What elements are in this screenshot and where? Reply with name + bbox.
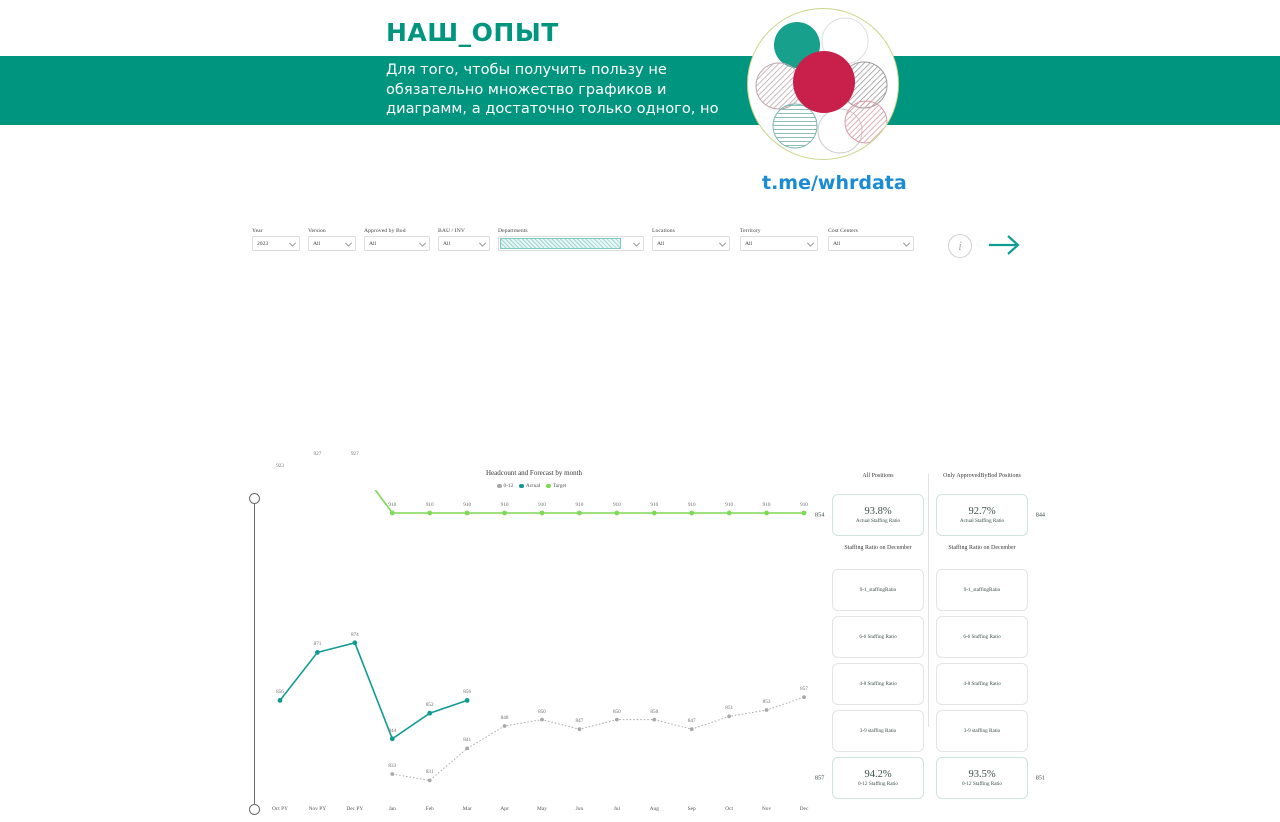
filter-bau-inv[interactable]: BAU / INV All — [438, 228, 490, 251]
chevron-down-icon — [345, 239, 352, 246]
kpi-main-caption: Actual Staffing Ratio — [856, 518, 900, 524]
data-point-label: 910 — [426, 502, 434, 508]
data-point-label: 857 — [800, 686, 808, 692]
kpi-column-divider — [928, 474, 929, 727]
legend-swatch-icon — [546, 484, 551, 489]
kpi-main-caption: Actual Staffing Ratio — [960, 518, 1004, 524]
data-point-label: 910 — [538, 502, 546, 508]
data-point-label: 856 — [276, 689, 284, 695]
legend-swatch-icon — [497, 484, 502, 489]
data-point-label: 910 — [388, 502, 396, 508]
kpi-total-side-left: 857 — [815, 775, 824, 782]
filter-year-value: 2023 — [257, 241, 268, 247]
data-point-label: 853 — [763, 699, 771, 705]
x-axis-tick-label: Oct — [725, 806, 733, 812]
telegram-channel-link[interactable]: t.me/whrdata — [762, 172, 907, 194]
filter-territory-value: All — [745, 241, 752, 247]
chart-plot-area — [262, 490, 822, 820]
data-point-label: 910 — [800, 502, 808, 508]
filter-departments-label: Departments — [498, 228, 644, 234]
ratio-card-4-8[interactable]: 4-8 Staffing Ratio — [936, 663, 1028, 705]
filter-approved-by-bod[interactable]: Approved by Bod All — [364, 228, 430, 251]
kpi-column-all-positions: All Positions 854 93.8% Actual Staffing … — [832, 472, 924, 799]
kpi-main-value: 93.8% — [864, 506, 891, 517]
filter-cost-centers-label: Cost Centers — [828, 228, 914, 234]
kpi-total-caption: 0-12 Staffing Ratio — [962, 781, 1002, 787]
filter-version-value: All — [313, 241, 320, 247]
filter-cost-centers-select[interactable]: All — [828, 236, 914, 251]
info-icon[interactable]: i — [948, 234, 972, 258]
kpi-side-value-left: 854 — [815, 512, 824, 519]
data-point-label: 850 — [538, 709, 546, 715]
filter-locations-label: Locations — [652, 228, 730, 234]
ratio-card-6-6[interactable]: 6-6 Staffing Ratio — [936, 616, 1028, 658]
kpi-card-actual-staffing-ratio[interactable]: 92.7% Actual Staffing Ratio 844 — [936, 494, 1028, 536]
data-point-label: 927 — [351, 451, 359, 457]
kpi-card-0-12-staffing-ratio[interactable]: 93.5% 0-12 Staffing Ratio 851 — [936, 757, 1028, 799]
legend-swatch-icon — [519, 484, 524, 489]
data-point-label: 910 — [725, 502, 733, 508]
x-axis-tick-label: Nov — [762, 806, 771, 812]
filter-territory-label: Territory — [740, 228, 818, 234]
filter-cost-centers-value: All — [833, 241, 840, 247]
x-axis-tick-label: Mar — [463, 806, 472, 812]
data-point-label: 841 — [463, 737, 471, 743]
legend-item-target[interactable]: Target — [546, 483, 566, 489]
x-axis-tick-label: May — [537, 806, 547, 812]
promo-banner: НАШ_ОПЫТ Для того, чтобы получить пользу… — [0, 0, 1280, 210]
x-axis-tick-label: Jul — [614, 806, 620, 812]
ratio-card-9-1[interactable]: 9-1_staffingRatio — [832, 569, 924, 611]
filter-version-select[interactable]: All — [308, 236, 356, 251]
filter-locations-select[interactable]: All — [652, 236, 730, 251]
data-point-label: 910 — [763, 502, 771, 508]
flower-logo-graphic — [748, 9, 899, 160]
kpi-card-actual-staffing-ratio[interactable]: 854 93.8% Actual Staffing Ratio — [832, 494, 924, 536]
x-axis-tick-label: Jan — [389, 806, 396, 812]
data-point-label: 910 — [501, 502, 509, 508]
data-point-label: 848 — [501, 715, 509, 721]
banner-subtitle: Для того, чтобы получить пользу не обяза… — [386, 60, 748, 138]
x-axis-tick-label: Sep — [688, 806, 696, 812]
data-point-label: 927 — [314, 451, 322, 457]
filter-locations[interactable]: Locations All — [652, 228, 730, 251]
chevron-down-icon — [419, 239, 426, 246]
chevron-down-icon — [903, 239, 910, 246]
chevron-down-icon — [479, 239, 486, 246]
kpi-card-0-12-staffing-ratio[interactable]: 857 94.2% 0-12 Staffing Ratio — [832, 757, 924, 799]
filter-approved-by-bod-value: All — [369, 241, 376, 247]
kpi-total-caption: 0-12 Staffing Ratio — [858, 781, 898, 787]
filter-bau-inv-label: BAU / INV — [438, 228, 490, 234]
kpi-total-value: 93.5% — [968, 769, 995, 780]
data-point-label: 910 — [650, 502, 658, 508]
kpi-subsection-title: Staffing Ratio on December — [936, 544, 1028, 564]
chevron-down-icon — [633, 239, 640, 246]
data-point-label: 874 — [351, 632, 359, 638]
filter-version[interactable]: Version All — [308, 228, 356, 251]
data-point-label: 910 — [613, 502, 621, 508]
ratio-card-9-1[interactable]: 9-1_staffingRatio — [936, 569, 1028, 611]
slider-handle-top[interactable] — [249, 493, 260, 504]
filter-territory-select[interactable]: All — [740, 236, 818, 251]
filter-departments[interactable]: Departments — [498, 228, 644, 251]
vertical-range-slider[interactable] — [249, 493, 261, 815]
filter-bau-inv-value: All — [443, 241, 450, 247]
data-point-label: 910 — [688, 502, 696, 508]
filter-year[interactable]: Year 2023 — [252, 228, 300, 251]
kpi-subsection-title: Staffing Ratio on December — [832, 544, 924, 564]
data-point-label: 923 — [276, 463, 284, 469]
filter-departments-selection-fill — [500, 238, 621, 249]
filter-territory[interactable]: Territory All — [740, 228, 818, 251]
ratio-card-3-9[interactable]: 3-9 staffing Ratio — [832, 710, 924, 752]
kpi-panel: All Positions 854 93.8% Actual Staffing … — [832, 472, 1028, 822]
x-axis-tick-label: Oct PY — [272, 806, 288, 812]
x-axis-tick-label: Nov PY — [309, 806, 327, 812]
kpi-total-value: 94.2% — [864, 769, 891, 780]
chevron-down-icon — [719, 239, 726, 246]
kpi-column-approved-positions: Only ApprovedByBod Positions 92.7% Actua… — [936, 472, 1028, 799]
filter-version-label: Version — [308, 228, 356, 234]
filter-departments-select[interactable] — [498, 236, 644, 251]
kpi-main-value: 92.7% — [968, 506, 995, 517]
filter-bau-inv-select[interactable]: All — [438, 236, 490, 251]
data-point-label: 910 — [463, 502, 471, 508]
kpi-column-title: Only ApprovedByBod Positions — [936, 472, 1028, 494]
headcount-forecast-chart[interactable]: 9239279279109109109109109109109109109109… — [262, 490, 822, 820]
data-point-label: 847 — [688, 718, 696, 724]
chevron-down-icon — [807, 239, 814, 246]
x-axis-tick-label: Feb — [426, 806, 434, 812]
flower-logo — [747, 8, 899, 160]
kpi-total-side-right: 851 — [1036, 775, 1045, 782]
chart-legend: 0-12 Actual Target — [497, 483, 566, 489]
dashboard-canvas: Year 2023 Version All Approved by Bod Al… — [0, 210, 1280, 719]
data-point-label: 850 — [650, 709, 658, 715]
arrow-right-icon[interactable] — [988, 232, 1022, 258]
data-point-label: 847 — [576, 718, 584, 724]
ratio-card-3-9[interactable]: 3-9 staffing Ratio — [936, 710, 1028, 752]
x-axis-tick-label: Jun — [576, 806, 584, 812]
filter-approved-by-bod-select[interactable]: All — [364, 236, 430, 251]
kpi-column-title: All Positions — [832, 472, 924, 494]
x-axis-tick-label: Aug — [650, 806, 659, 812]
ratio-card-6-6[interactable]: 6-6 Staffing Ratio — [832, 616, 924, 658]
data-point-label: 850 — [613, 709, 621, 715]
legend-label-target: Target — [553, 483, 567, 489]
legend-item-0-12[interactable]: 0-12 — [497, 483, 513, 489]
chart-title: Headcount and Forecast by month — [486, 469, 582, 477]
filter-year-label: Year — [252, 228, 300, 234]
data-point-label: 910 — [576, 502, 584, 508]
filter-cost-centers[interactable]: Cost Centers All — [828, 228, 914, 251]
x-axis-tick-label: Dec — [800, 806, 809, 812]
x-axis-tick-label: Apr — [500, 806, 508, 812]
banner-title: НАШ_ОПЫТ — [386, 18, 559, 47]
legend-label-0-12: 0-12 — [504, 483, 514, 489]
x-axis-tick-label: Dec PY — [346, 806, 363, 812]
data-point-label: 852 — [426, 702, 434, 708]
filter-locations-value: All — [657, 241, 664, 247]
data-point-label: 831 — [426, 769, 434, 775]
legend-item-actual[interactable]: Actual — [519, 483, 540, 489]
filter-approved-by-bod-label: Approved by Bod — [364, 228, 430, 234]
ratio-card-4-8[interactable]: 4-8 Staffing Ratio — [832, 663, 924, 705]
legend-label-actual: Actual — [526, 483, 540, 489]
kpi-side-value-right: 844 — [1036, 512, 1045, 519]
chevron-down-icon — [289, 239, 296, 246]
data-point-label: 871 — [314, 641, 322, 647]
data-point-label: 856 — [463, 689, 471, 695]
slider-handle-bottom[interactable] — [249, 804, 260, 815]
data-point-label: 851 — [725, 705, 733, 711]
filter-year-select[interactable]: 2023 — [252, 236, 300, 251]
data-point-label: 833 — [388, 763, 396, 769]
slider-track — [254, 499, 255, 809]
data-point-label: 844 — [388, 728, 396, 734]
